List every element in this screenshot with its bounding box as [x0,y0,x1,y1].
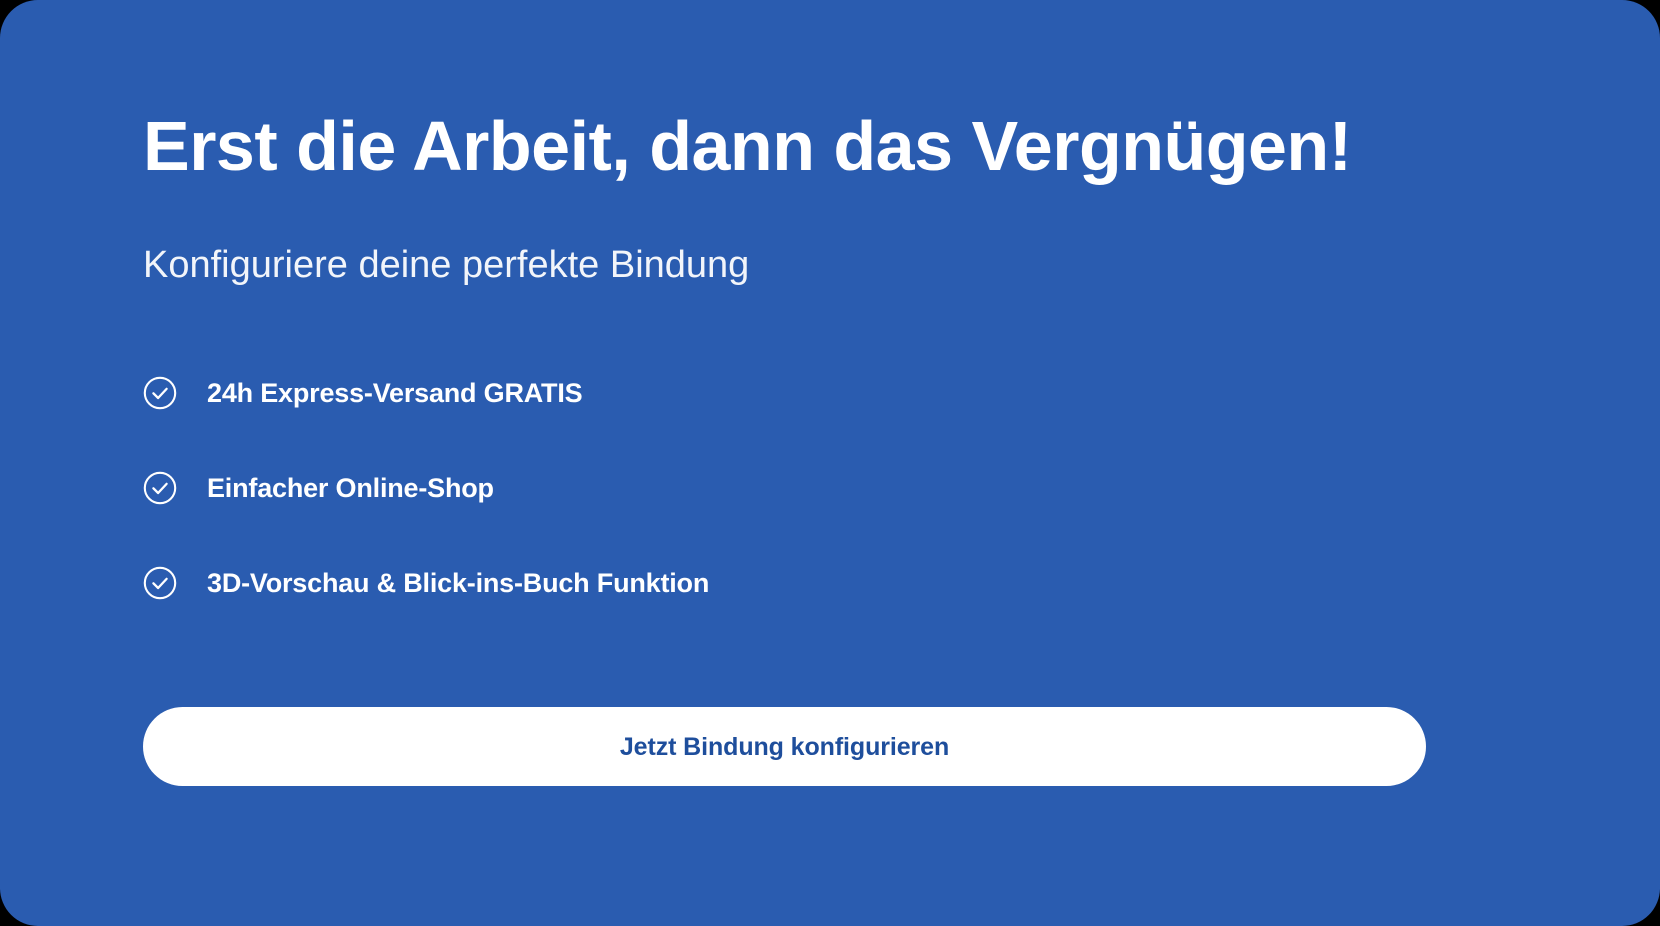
list-item: 24h Express-Versand GRATIS [143,366,1433,420]
circle-check-icon [143,376,177,410]
feature-label: 24h Express-Versand GRATIS [207,376,582,410]
feature-label: Einfacher Online-Shop [207,471,494,505]
circle-check-icon [143,471,177,505]
page-subtitle: Konfiguriere deine perfekte Bindung [143,239,1433,291]
feature-label: 3D-Vorschau & Blick-ins-Buch Funktion [207,566,709,600]
feature-list: 24h Express-Versand GRATIS Einfacher Onl… [143,366,1433,651]
list-item: 3D-Vorschau & Blick-ins-Buch Funktion [143,556,1433,610]
cta-label: Jetzt Bindung konfigurieren [620,732,949,762]
card-content: Erst die Arbeit, dann das Vergnügen! Kon… [143,0,1426,926]
configure-binding-button[interactable]: Jetzt Bindung konfigurieren [143,707,1426,786]
list-item: Einfacher Online-Shop [143,461,1433,515]
circle-check-icon [143,566,177,600]
promo-card: Erst die Arbeit, dann das Vergnügen! Kon… [0,0,1660,926]
page-title: Erst die Arbeit, dann das Vergnügen! [143,104,1433,188]
